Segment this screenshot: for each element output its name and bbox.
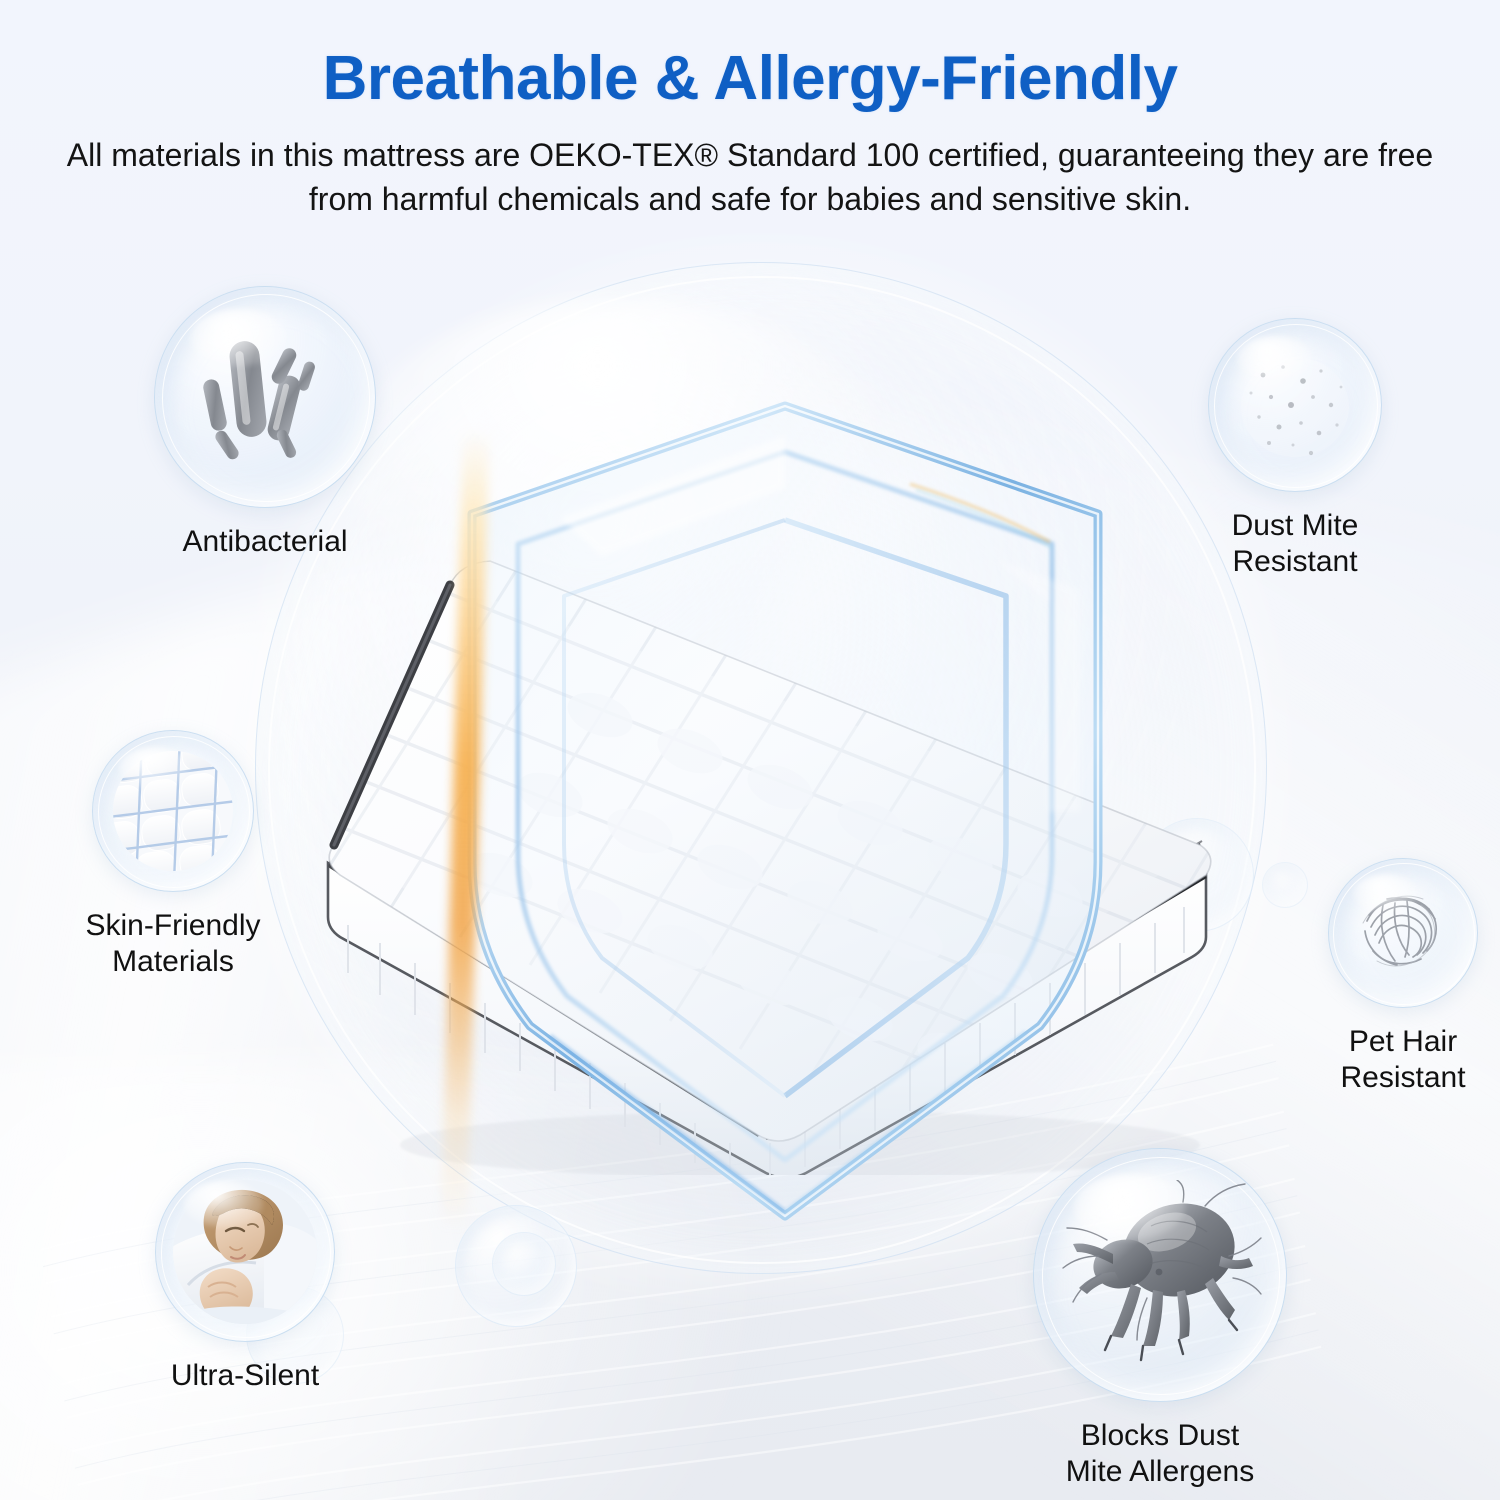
feature-label: Blocks Dust Mite Allergens (1010, 1418, 1310, 1490)
dust-particles-icon (1225, 335, 1365, 475)
feature-label: Ultra-Silent (100, 1358, 390, 1394)
light-beam-accent (441, 430, 489, 1230)
bubble-content (156, 1163, 334, 1341)
quilted-fabric-icon (106, 744, 240, 878)
main-protection-circle-gloss (340, 300, 900, 630)
feature-label: Dust Mite Resistant (1150, 508, 1440, 580)
bubble-blocks-dust-mite-allergens (1033, 1148, 1287, 1402)
feature-antibacterial[interactable]: Antibacterial (120, 286, 410, 560)
main-protection-circle-ring (268, 276, 1256, 1264)
bubble-content (93, 731, 253, 891)
protective-shield (440, 392, 1130, 1232)
mattress-product-image (300, 545, 1260, 1175)
decorative-bubble-2 (492, 1232, 556, 1296)
bubble-antibacterial (154, 286, 376, 508)
bubble-content (155, 287, 375, 507)
feature-dust-mite-resistant[interactable]: Dust Mite Resistant (1150, 318, 1440, 580)
bubble-dust-mite-resistant (1208, 318, 1382, 492)
feature-ultra-silent[interactable]: Ultra-Silent (100, 1162, 390, 1394)
decorative-bubble-1 (455, 1205, 577, 1327)
dust-mite-icon (1055, 1180, 1265, 1370)
bubble-pet-hair-resistant (1328, 858, 1478, 1008)
bubble-content (1209, 319, 1381, 491)
feature-pet-hair-resistant[interactable]: Pet Hair Resistant (1258, 858, 1500, 1096)
bubble-content (1034, 1149, 1286, 1401)
decorative-bubble-4 (1140, 818, 1254, 932)
page-subtitle: All materials in this mattress are OEKO-… (40, 134, 1460, 221)
feature-skin-friendly-materials[interactable]: Skin-Friendly Materials (28, 730, 318, 980)
header-block: Breathable & Allergy-Friendly All materi… (0, 48, 1500, 221)
bubble-ultra-silent (155, 1162, 335, 1342)
feature-blocks-dust-mite-allergens[interactable]: Blocks Dust Mite Allergens (1010, 1148, 1310, 1490)
bubble-skin-friendly-materials (92, 730, 254, 892)
feature-label: Antibacterial (120, 524, 410, 560)
infographic-canvas: Breathable & Allergy-Friendly All materi… (0, 0, 1500, 1500)
bubble-content (1329, 859, 1477, 1007)
feature-label: Skin-Friendly Materials (28, 908, 318, 980)
page-title: Breathable & Allergy-Friendly (0, 48, 1500, 110)
bacteria-icon (185, 317, 345, 477)
sleeping-woman-icon (160, 1167, 330, 1337)
hair-tuft-icon (1343, 873, 1463, 993)
feature-label: Pet Hair Resistant (1258, 1024, 1500, 1096)
